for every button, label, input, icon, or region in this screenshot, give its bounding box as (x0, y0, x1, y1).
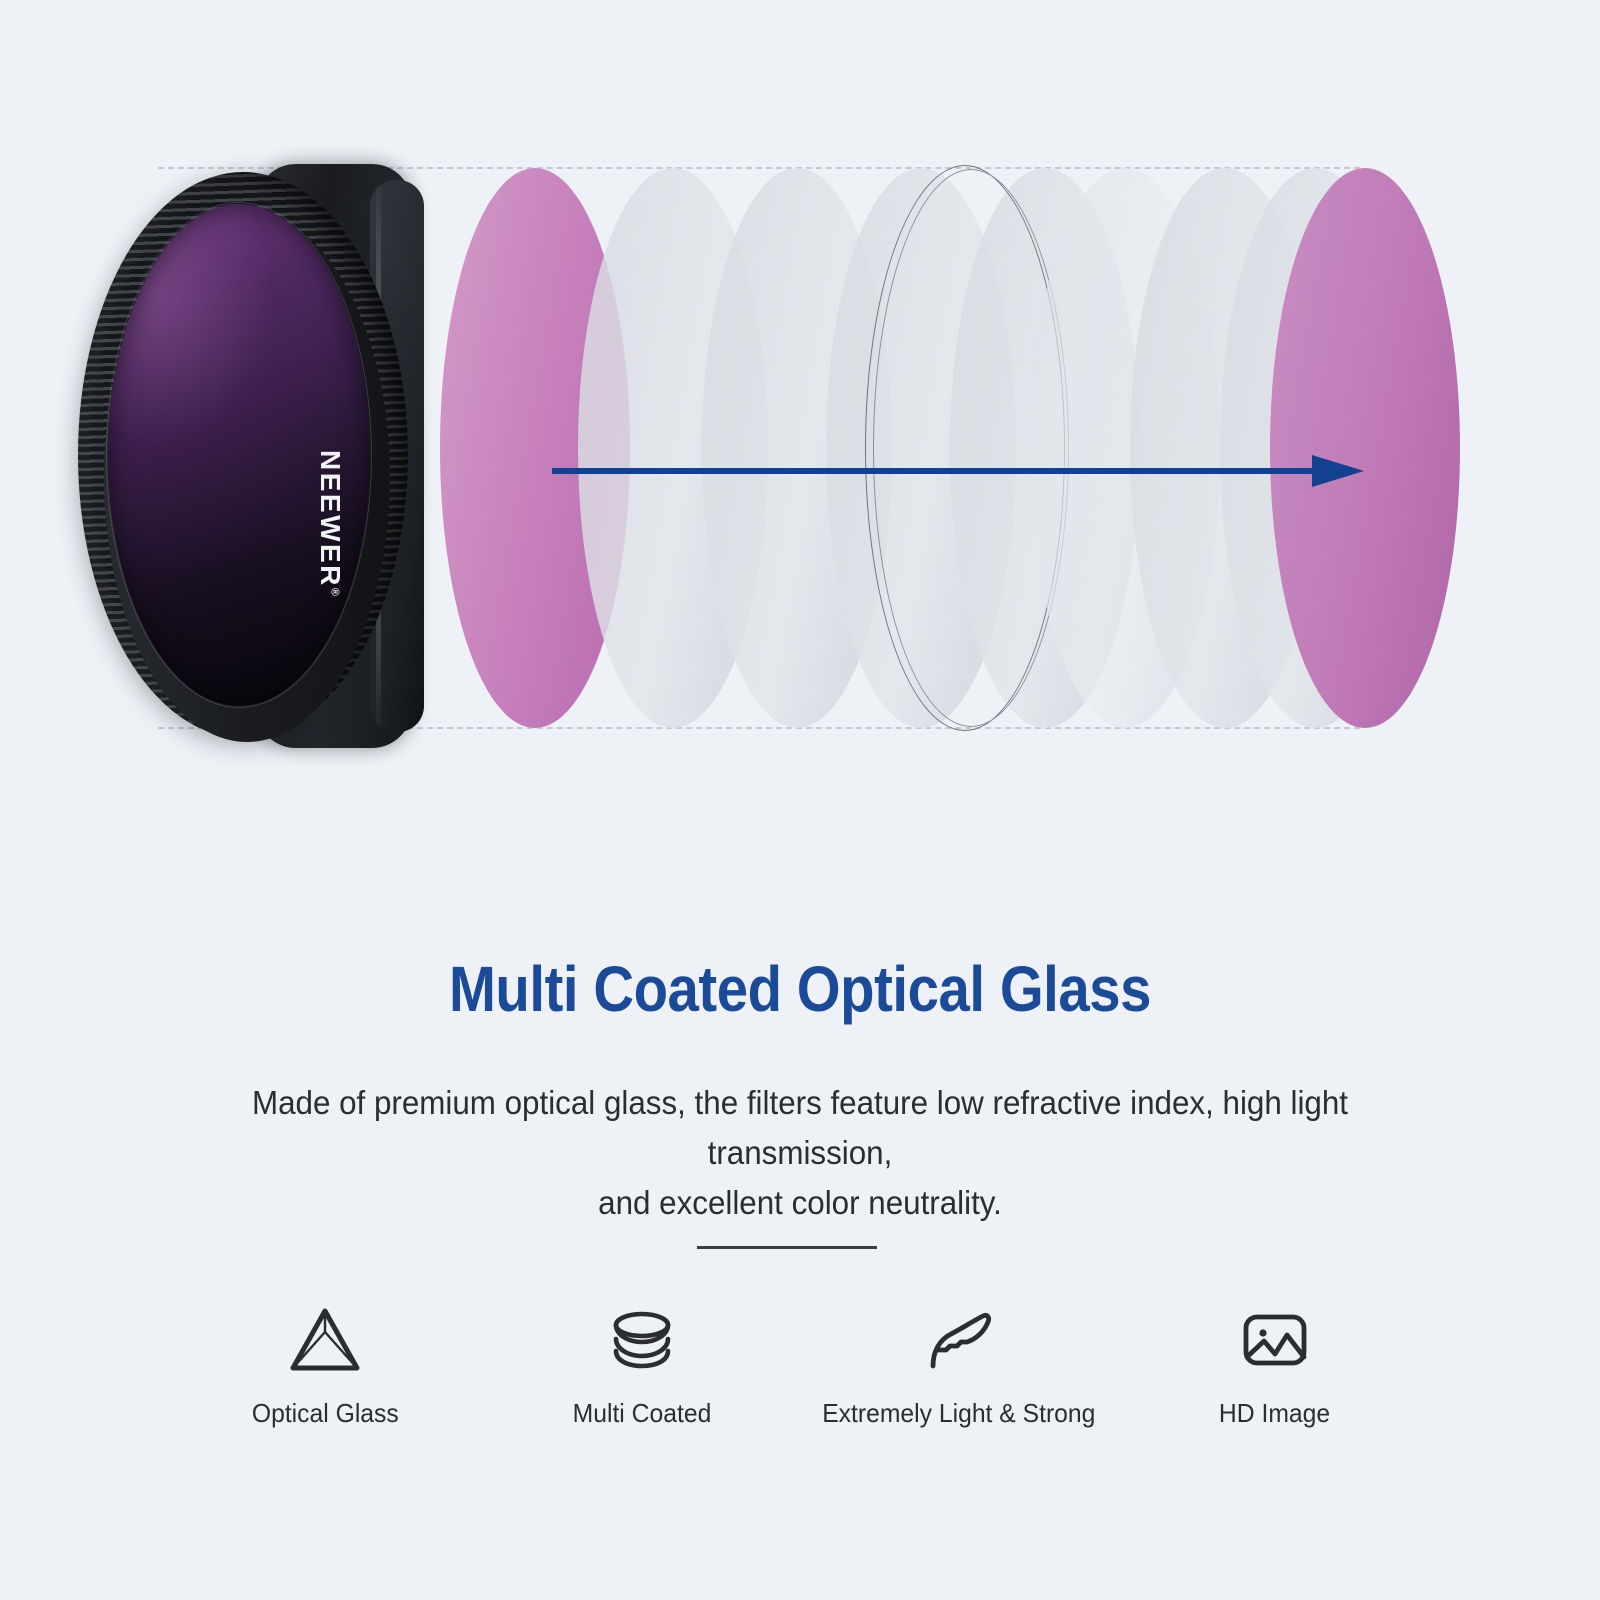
multi-coating-layer-diagram (430, 168, 1380, 728)
registered-trademark-mark: ® (328, 588, 340, 596)
description-line-1: Made of premium optical glass, the filte… (183, 1078, 1418, 1178)
image-icon (1238, 1300, 1312, 1380)
page-title: Multi Coated Optical Glass (96, 952, 1504, 1026)
hero-diagram-section: NEEWER® (0, 0, 1600, 900)
brand-name: NEEWER (315, 450, 346, 588)
feature-label: Multi Coated (572, 1398, 711, 1429)
arrow-head (1312, 455, 1364, 487)
rear-coating-layer (1270, 168, 1460, 728)
feature-label: HD Image (1219, 1398, 1330, 1429)
prism-icon (288, 1300, 362, 1380)
feature-item-extremely-light-strong: Extremely Light & Strong (813, 1300, 1103, 1429)
feature-item-multi-coated: Multi Coated (497, 1300, 787, 1429)
light-path-arrow-icon (552, 455, 1362, 487)
section-divider (697, 1246, 877, 1249)
description-line-2: and excellent color neutrality. (183, 1178, 1418, 1228)
feature-item-optical-glass: Optical Glass (180, 1300, 470, 1429)
feature-item-hd-image: HD Image (1130, 1300, 1420, 1429)
page-description: Made of premium optical glass, the filte… (183, 1078, 1418, 1228)
layers-icon (606, 1300, 678, 1380)
feather-icon (921, 1300, 995, 1380)
feature-label: Optical Glass (252, 1398, 399, 1429)
nd-filter-product-image: NEEWER® (70, 150, 460, 760)
feature-label: Extremely Light & Strong (822, 1398, 1095, 1429)
brand-logo-text: NEEWER® (314, 450, 346, 596)
arrow-shaft (552, 468, 1322, 474)
feature-list: Optical Glass Multi Coated Extremely Lig… (180, 1300, 1420, 1470)
